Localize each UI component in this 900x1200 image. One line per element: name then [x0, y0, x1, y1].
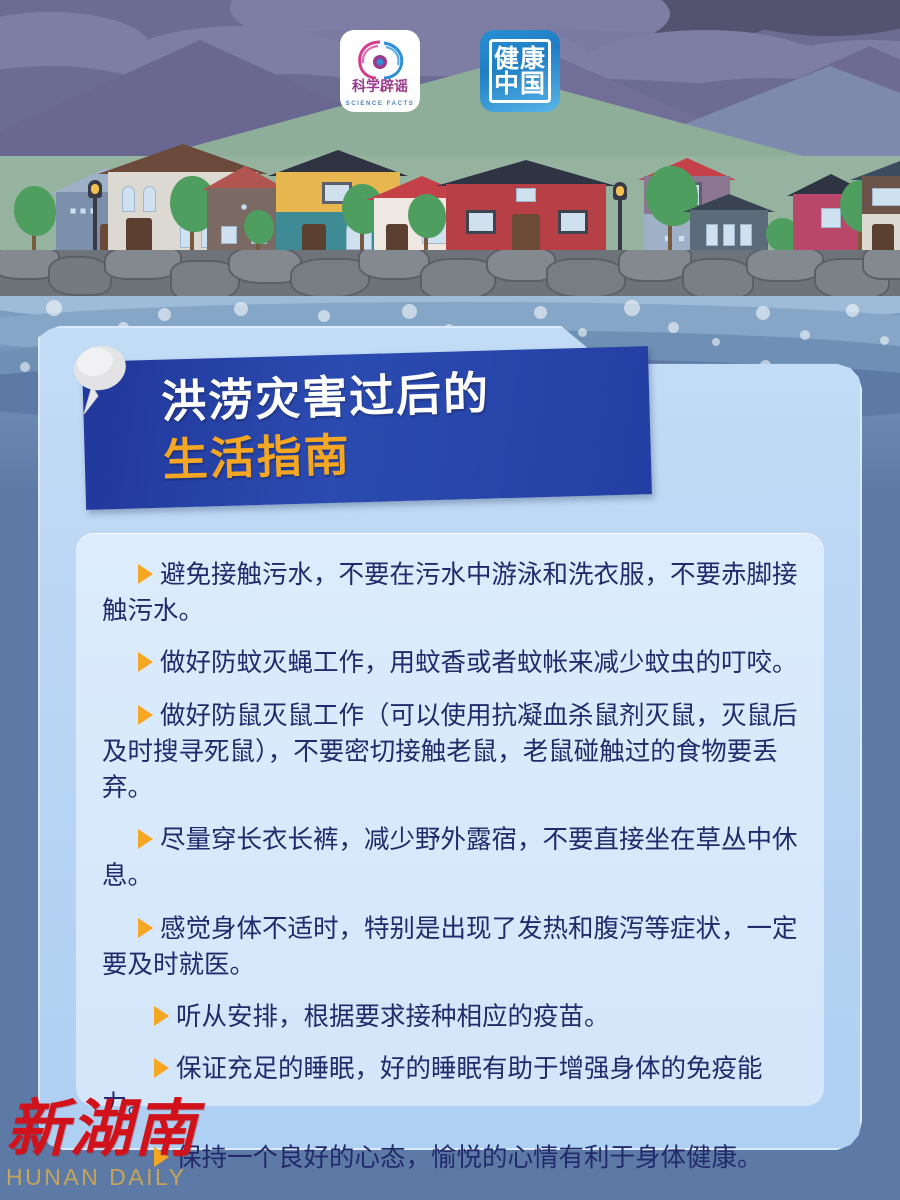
triangle-right-arrow-icon [138, 829, 153, 849]
tip-item: 尽量穿长衣长裤，减少野外露宿，不要直接坐在草丛中休息。 [102, 822, 798, 894]
title-text-group: 洪涝灾害过后的 生活指南 [160, 361, 633, 489]
triangle-right-arrow-icon [138, 652, 153, 672]
poster-root: 科学辟谣 SCIENCE FACTS 健康 中国 洪涝灾害过后的 生活指南 [0, 0, 900, 1200]
tip-text: 尽量穿长衣长裤，减少野外露宿，不要直接坐在草丛中休息。 [102, 825, 798, 891]
logo-row: 科学辟谣 SCIENCE FACTS 健康 中国 [0, 30, 900, 112]
triangle-right-arrow-icon [138, 705, 153, 725]
science-facts-title: 科学辟谣 [340, 76, 420, 96]
healthy-china-line2: 中国 [494, 71, 546, 96]
healthy-china-logo: 健康 中国 [480, 30, 560, 112]
triangle-right-arrow-icon [154, 1058, 169, 1078]
tip-text: 做好防鼠灭鼠工作（可以使用抗凝血杀鼠剂灭鼠，灭鼠后及时搜寻死鼠），不要密切接触老… [102, 701, 798, 803]
tip-text: 避免接触污水，不要在污水中游泳和洗衣服，不要赤脚接触污水。 [102, 560, 798, 626]
tip-text: 感觉身体不适时，特别是出现了发热和腹泻等症状，一定要及时就医。 [102, 914, 798, 980]
pushpin-icon [60, 334, 132, 430]
tip-text: 做好防蚊灭蝇工作，用蚊香或者蚊帐来减少蚊虫的叮咬。 [160, 648, 798, 678]
title-line-2: 生活指南 [162, 418, 633, 489]
triangle-right-arrow-icon [154, 1006, 169, 1026]
watermark-chinese: 新湖南 [6, 1098, 306, 1160]
tip-text: 听从安排，根据要求接种相应的疫苗。 [176, 1002, 610, 1032]
tip-item: 避免接触污水，不要在污水中游泳和洗衣服，不要赤脚接触污水。 [102, 557, 798, 629]
watermark-english: HUNAN DAILY [6, 1164, 306, 1191]
tips-list: 避免接触污水，不要在污水中游泳和洗衣服，不要赤脚接触污水。 做好防蚊灭蝇工作，用… [76, 533, 824, 1106]
content-card: 洪涝灾害过后的 生活指南 避免接触污水，不要在污水中游泳和洗衣服，不要赤脚接触污… [38, 326, 862, 1150]
tip-item: 做好防鼠灭鼠工作（可以使用抗凝血杀鼠剂灭鼠，灭鼠后及时搜寻死鼠），不要密切接触老… [102, 698, 798, 807]
triangle-right-arrow-icon [138, 564, 153, 584]
watermark: 新湖南 HUNAN DAILY [6, 1098, 306, 1191]
tip-item: 做好防蚊灭蝇工作，用蚊香或者蚊帐来减少蚊虫的叮咬。 [102, 645, 798, 681]
tips-panel: 避免接触污水，不要在污水中游泳和洗衣服，不要赤脚接触污水。 做好防蚊灭蝇工作，用… [76, 533, 824, 1106]
healthy-china-line1: 健康 [494, 46, 546, 71]
triangle-right-arrow-icon [138, 918, 153, 938]
tip-item: 听从安排，根据要求接种相应的疫苗。 [102, 999, 798, 1035]
stone-seawall [0, 250, 900, 302]
tip-item: 感觉身体不适时，特别是出现了发热和腹泻等症状，一定要及时就医。 [102, 911, 798, 983]
town-houses [0, 130, 900, 258]
science-facts-subtitle: SCIENCE FACTS [340, 101, 420, 107]
healthy-china-frame: 健康 中国 [489, 39, 551, 103]
science-facts-logo: 科学辟谣 SCIENCE FACTS [340, 30, 420, 112]
title-banner: 洪涝灾害过后的 生活指南 [82, 346, 652, 510]
